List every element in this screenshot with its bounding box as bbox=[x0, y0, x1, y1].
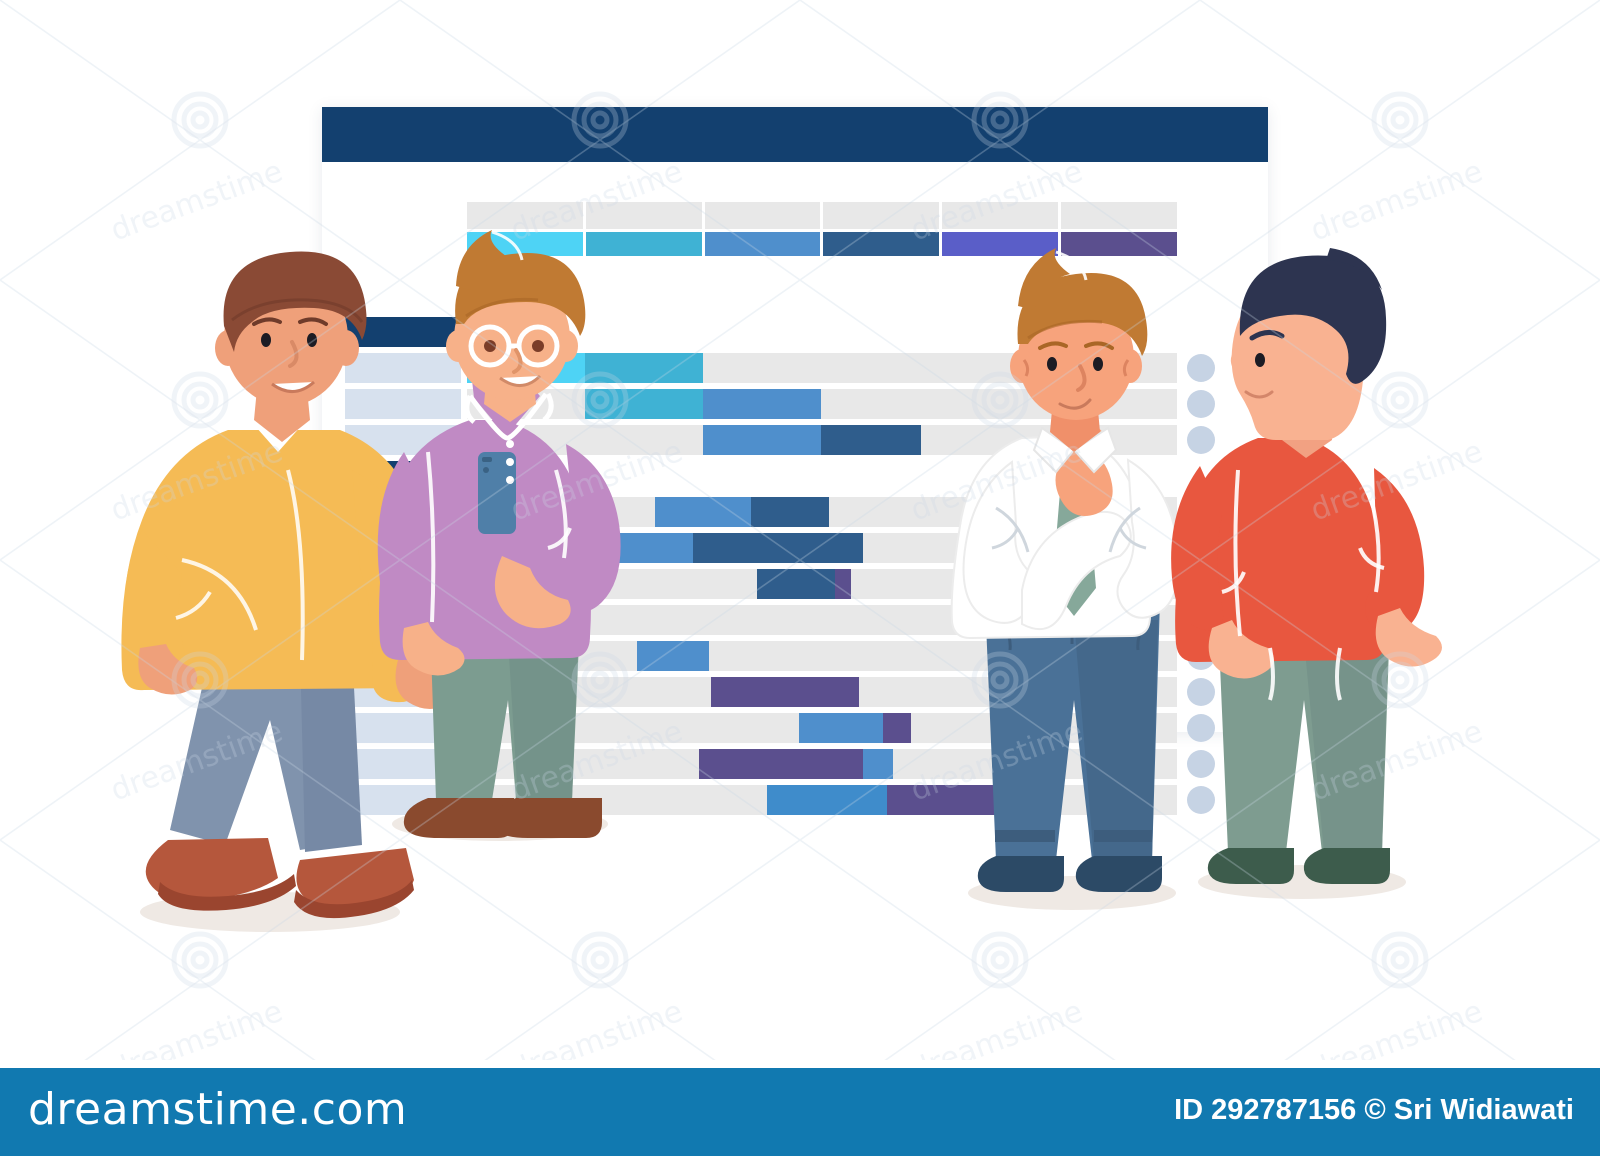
image-credit: ID 292787156 © Sri Widiawati bbox=[1174, 1094, 1574, 1127]
illustration-stage: dreamstime dreamstime.com ID 292787156 ©… bbox=[0, 0, 1600, 1156]
brand-text: dreamstime.com bbox=[28, 1084, 407, 1135]
watermark-overlay: dreamstime bbox=[0, 0, 1600, 1060]
footer-bar: dreamstime.com ID 292787156 © Sri Widiaw… bbox=[0, 1068, 1600, 1156]
dreamstime-logo[interactable]: dreamstime.com bbox=[28, 1084, 407, 1135]
